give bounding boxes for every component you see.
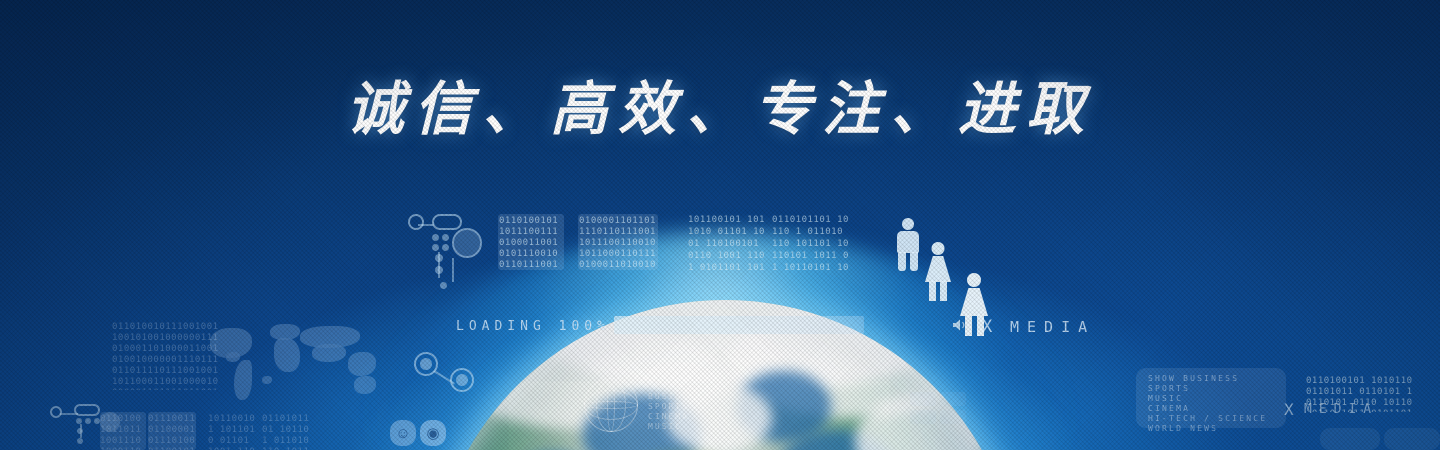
globe-category-0: BUSINESS [648,392,703,402]
right-item-1: SPORTS [1148,384,1280,394]
right-item-4: HI-TECH / SCIENCE [1148,414,1280,424]
media-x-label: X [982,317,992,337]
right-bottom-panel-2 [1384,428,1440,450]
right-item-5: WORLD NEWS [1148,424,1280,434]
camera-lens-icon[interactable]: ◉ [420,420,446,446]
mid-code-2: 0100001101101111011011100110111001100101… [579,216,657,270]
globe-category-2: CINEMA [648,412,703,422]
right-bottom-panel-1 [1320,428,1380,450]
world-map-icon [208,322,388,404]
code-text: 0111001101100001011101000110010101101100… [148,414,196,450]
mid-code-1: 0110100101101110011101000110010101110010… [499,216,563,270]
globe-panel-3 [910,410,936,424]
chat-bubble-icon[interactable]: ☺ [390,420,416,446]
media-label-right: MEDIA [1304,402,1378,417]
person-front-male [893,218,923,270]
globe-panel-1 [910,392,936,406]
mid-binary-2: 0110101101 10110 1 011010 110 101101 101… [772,214,852,270]
bottom-left-code-2: 0111001101100001011101000110010101101100… [148,414,196,450]
wire-globe-icon [584,378,638,432]
world-title-text: WORLD [648,374,707,384]
code-text: 0110101101 10110 1 011010 110 101101 101… [262,414,312,450]
hero-banner: 诚信、高效、专注、进取 0110100101110010011001010010… [0,0,1440,450]
left-code-panel: 0110100101110010011001010010000001110100… [112,322,220,390]
right-item-0: SHOW BUSINESS [1148,374,1280,384]
bottom-left-binary-4: 0110101101 10110 1 011010 110 101101 101… [262,414,312,450]
globe-category-3: MUSIC [648,422,703,432]
person-mid-female [921,242,955,300]
bottom-left-binary-3: 101100101 1011010 01101 1001 110100101 0… [208,414,258,450]
loading-label: LOADING 100% [456,319,610,334]
network-node-icon [44,398,134,450]
code-text: 0110101101 10110 1 011010 110 101101 101… [772,214,852,270]
banner-headline: 诚信、高效、专注、进取 [0,62,1440,146]
globe-world-title: WORLD [648,374,707,384]
code-text: 101100101 1011010 01101 1001 110100101 0… [208,414,258,450]
right-category-list: SHOW BUSINESS SPORTS MUSIC CINEMA HI-TEC… [1148,374,1280,434]
globe-category-list: BUSINESS SPORTS CINEMA MUSIC [648,392,703,432]
right-item-2: MUSIC [1148,394,1280,404]
media-x-label-right: X [1284,400,1294,419]
code-text: 0100001101101111011011100110111001100101… [579,216,657,270]
globe-panel-4 [940,410,966,424]
network-node-diagram [404,208,492,294]
mid-binary-1: 101100101 1011010 01101 1001 110100101 0… [688,214,768,270]
loading-bar [614,316,864,334]
network-node-pair-icon [414,350,480,392]
code-text: 101100101 1011010 01101 1001 110100101 0… [688,214,768,270]
code-text: 0110100101101110011101000110010101110010… [499,216,563,270]
chat-bubble-glyph: ☺ [390,420,416,446]
media-label: MEDIA [1010,318,1095,336]
globe-panel-2 [940,392,966,406]
speaker-icon [952,318,968,332]
code-text: 0110100101110010011001010010000001110100… [112,322,220,390]
globe-category-1: SPORTS [648,402,703,412]
right-item-3: CINEMA [1148,404,1280,414]
camera-lens-glyph: ◉ [420,420,446,446]
